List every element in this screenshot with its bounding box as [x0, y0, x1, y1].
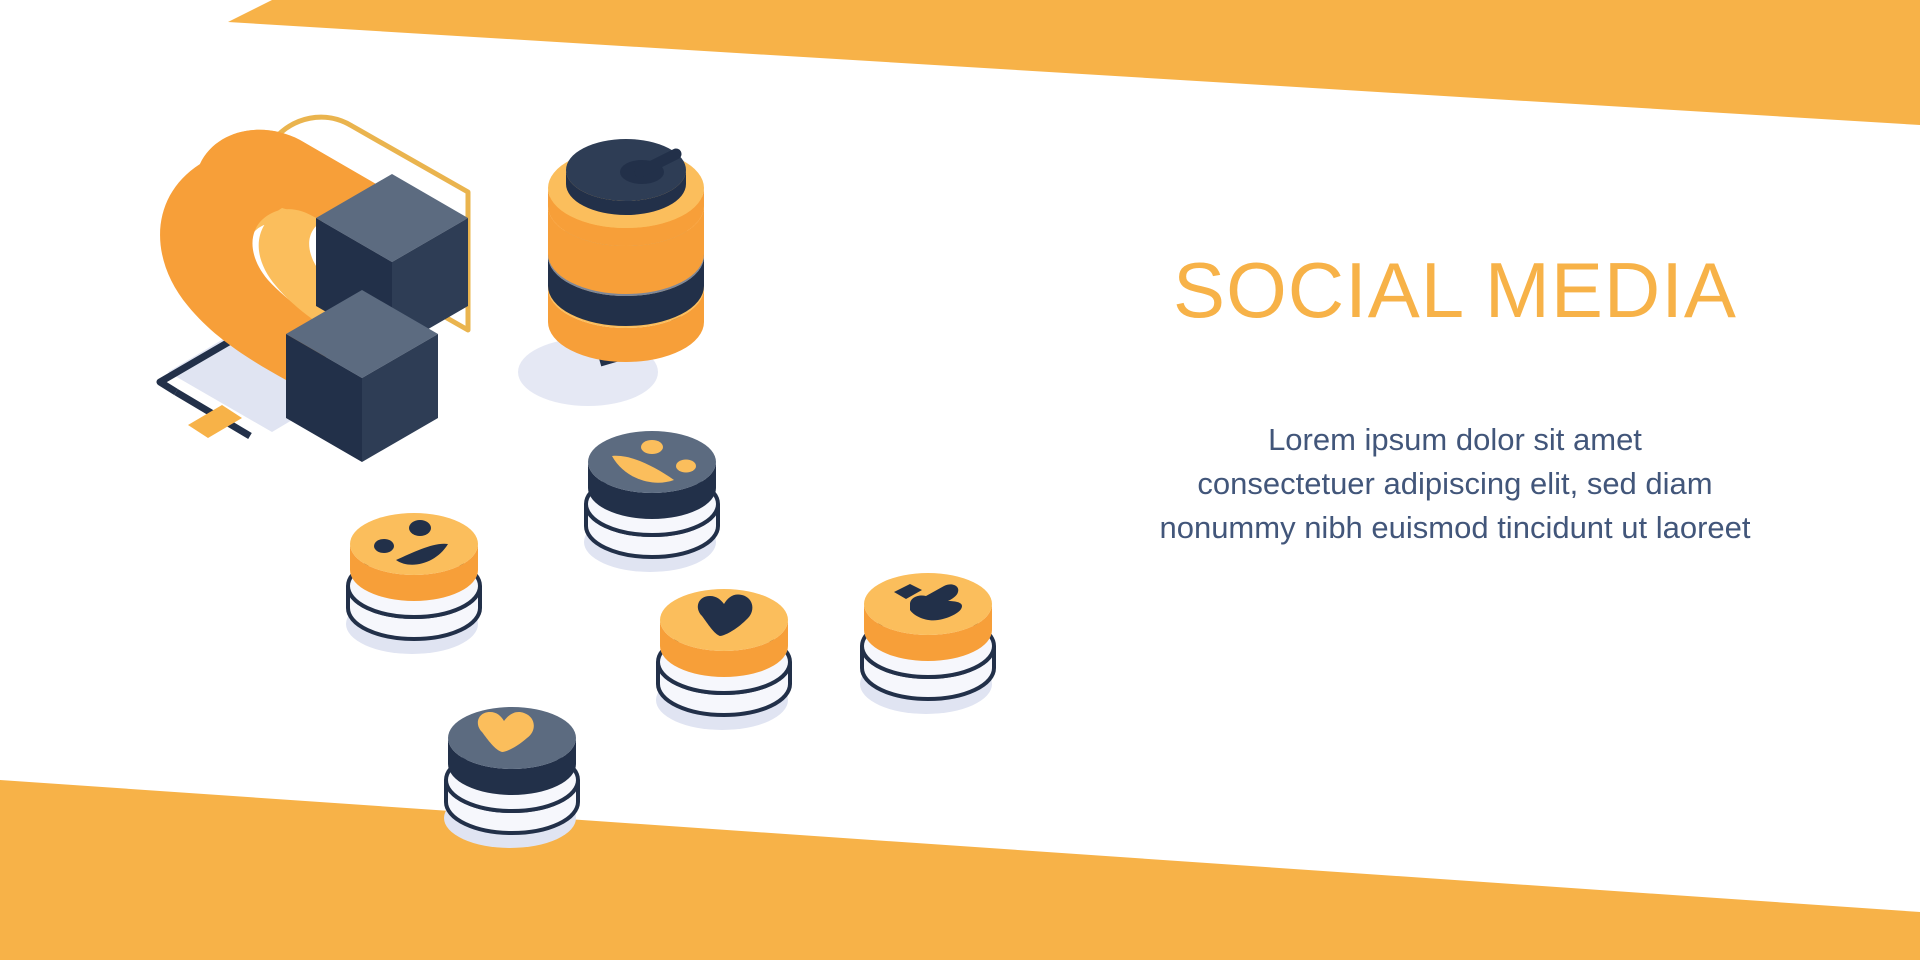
paragraph-line-3: nonummy nibh euismod tincidunt ut laoree…	[1040, 506, 1870, 550]
paragraph-line-1: Lorem ipsum dolor sit amet	[1040, 418, 1870, 462]
social-media-banner: SOCIAL MEDIA Lorem ipsum dolor sit amet …	[0, 0, 1920, 960]
isometric-social-media-illustration	[0, 0, 1150, 960]
page-title: SOCIAL MEDIA	[1040, 250, 1870, 332]
coin-stack-icon	[518, 139, 704, 406]
button-heart-orange	[656, 589, 790, 730]
body-paragraph: Lorem ipsum dolor sit amet consectetuer …	[1040, 418, 1870, 550]
text-block: SOCIAL MEDIA Lorem ipsum dolor sit amet …	[1040, 250, 1870, 550]
magnet-icon	[160, 117, 468, 462]
button-smiley-dark	[584, 431, 718, 572]
paragraph-line-2: consectetuer adipiscing elit, sed diam	[1040, 462, 1870, 506]
button-smiley-orange	[346, 513, 480, 654]
button-heart-dark	[444, 707, 578, 848]
button-thumbsup-orange	[860, 573, 994, 714]
coin-stack-cap	[566, 139, 686, 215]
